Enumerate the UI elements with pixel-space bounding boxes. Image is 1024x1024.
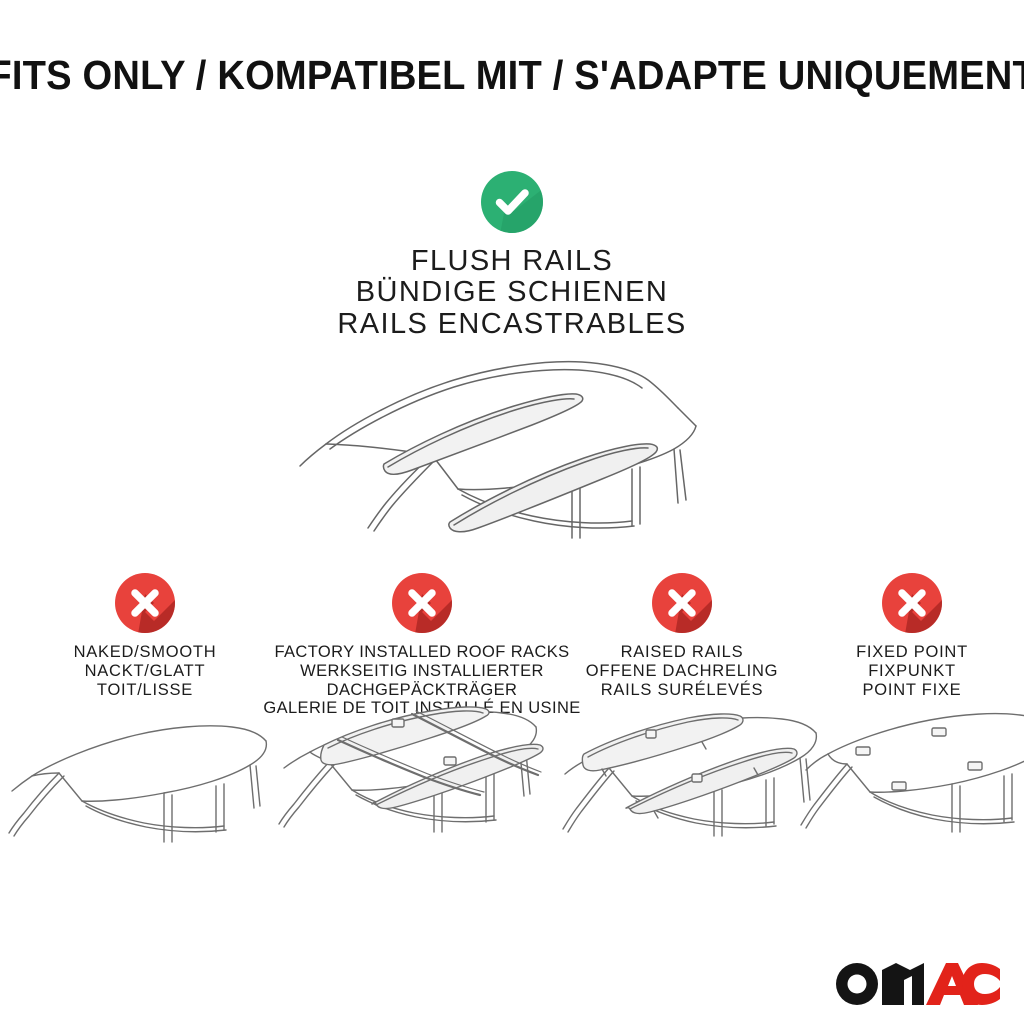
page-title: FITS ONLY / KOMPATIBEL MIT / S'ADAPTE UN…: [0, 52, 1024, 99]
red-x-circle-icon: [391, 572, 453, 634]
incompatible-label-de-2: DACHGEPÄCKTRÄGER: [263, 681, 580, 700]
car-roof-fixed-point-illustration: [808, 712, 1024, 902]
incompatible-labels: FACTORY INSTALLED ROOF RACKS WERKSEITIG …: [263, 643, 580, 718]
omac-logo: OMAC: [830, 956, 1000, 1010]
incompatible-label-fr: POINT FIXE: [856, 681, 968, 700]
compatible-labels: FLUSH RAILS BÜNDIGE SCHIENEN RAILS ENCAS…: [337, 246, 686, 340]
compatible-label-en: FLUSH RAILS: [337, 246, 686, 277]
red-x-circle-icon: [114, 572, 176, 634]
car-roof-raised-rails-illustration: [562, 712, 842, 902]
incompatible-label-de: OFFENE DACHRELING: [586, 662, 778, 681]
incompatible-label-fr: RAILS SURÉLEVÉS: [586, 681, 778, 700]
incompatible-label-de: NACKT/GLATT: [74, 662, 217, 681]
car-roof-naked-smooth-illustration: [2, 720, 274, 900]
incompatible-label-fr: TOIT/LISSE: [74, 681, 217, 700]
red-x-circle-icon: [651, 572, 713, 634]
incompatible-section: NAKED/SMOOTH NACKT/GLATT TOIT/LISSE: [0, 572, 1024, 932]
incompatible-label-en: FIXED POINT: [856, 643, 968, 662]
incompatible-label-de-1: WERKSEITIG INSTALLIERTER: [263, 662, 580, 681]
incompatible-labels: RAISED RAILS OFFENE DACHRELING RAILS SUR…: [586, 643, 778, 699]
incompatible-labels: FIXED POINT FIXPUNKT POINT FIXE: [856, 643, 968, 699]
compatible-label-de: BÜNDIGE SCHIENEN: [337, 277, 686, 308]
compatible-label-fr: RAILS ENCASTRABLES: [337, 309, 686, 340]
red-x-circle-icon: [881, 572, 943, 634]
incompatible-label-de: FIXPUNKT: [856, 662, 968, 681]
incompatible-label-en: NAKED/SMOOTH: [74, 643, 217, 662]
incompatible-item-naked-smooth: NAKED/SMOOTH NACKT/GLATT TOIT/LISSE: [10, 572, 280, 699]
car-roof-factory-roof-racks-illustration: [272, 712, 562, 902]
header: FITS ONLY / KOMPATIBEL MIT / S'ADAPTE UN…: [0, 0, 1024, 150]
compatible-section: FLUSH RAILS BÜNDIGE SCHIENEN RAILS ENCAS…: [0, 170, 1024, 560]
incompatible-item-fixed-point: FIXED POINT FIXPUNKT POINT FIXE: [800, 572, 1024, 699]
green-check-circle-icon: [480, 170, 544, 234]
incompatible-labels: NAKED/SMOOTH NACKT/GLATT TOIT/LISSE: [74, 643, 217, 699]
car-roof-flush-rails-illustration: [282, 348, 742, 558]
incompatible-label-en: FACTORY INSTALLED ROOF RACKS: [263, 643, 580, 662]
incompatible-label-en: RAISED RAILS: [586, 643, 778, 662]
incompatible-item-raised-rails: RAISED RAILS OFFENE DACHRELING RAILS SUR…: [562, 572, 802, 699]
incompatible-item-factory-roof-racks: FACTORY INSTALLED ROOF RACKS WERKSEITIG …: [272, 572, 572, 718]
